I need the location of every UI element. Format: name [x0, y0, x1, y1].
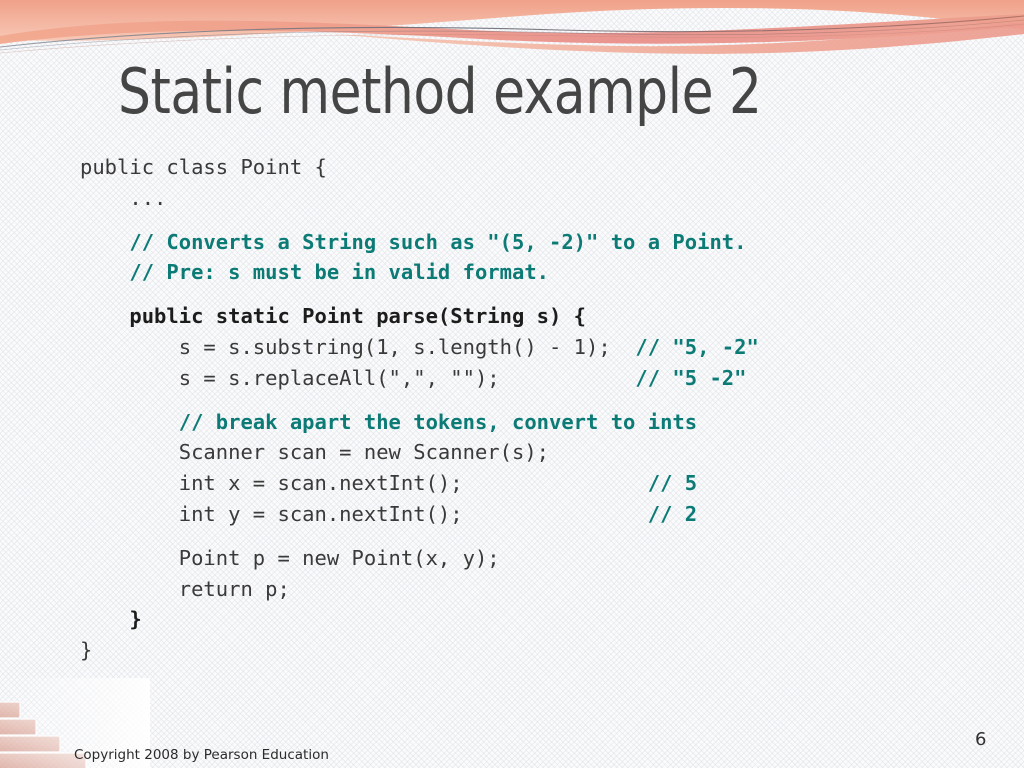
code-token-cmt: // "5, -2": [635, 335, 758, 359]
code-token-plain: Scanner scan = new Scanner(s);: [80, 440, 549, 464]
slide-page-number: 6: [975, 729, 986, 750]
code-token-cmt: // 5: [648, 471, 697, 495]
code-token-cmt: // "5 -2": [635, 366, 746, 390]
code-token-plain: Point p = new Point(x, y);: [80, 546, 500, 570]
code-line: }: [80, 604, 759, 635]
code-blank-line: [80, 288, 759, 301]
code-token-plain: s = s.replaceAll(",", "");: [80, 366, 635, 390]
code-blank-line: [80, 214, 759, 227]
code-token-bold: public static Point parse(String s) {: [80, 304, 586, 328]
code-token-plain: return p;: [80, 577, 290, 601]
copyright-notice: Copyright 2008 by Pearson Education: [74, 747, 329, 763]
code-token-plain: s = s.substring(1, s.length() - 1);: [80, 335, 635, 359]
code-block: public class Point { ... // Converts a S…: [80, 152, 759, 666]
code-line: // break apart the tokens, convert to in…: [80, 407, 759, 438]
code-token-plain: }: [80, 638, 92, 662]
code-blank-line: [80, 530, 759, 543]
code-line: Scanner scan = new Scanner(s);: [80, 437, 759, 468]
slide-canvas: Static method example 2 public class Poi…: [0, 0, 1024, 768]
code-token-plain: int y = scan.nextInt();: [80, 502, 648, 526]
code-line: ...: [80, 183, 759, 214]
code-token-plain: int x = scan.nextInt();: [80, 471, 648, 495]
code-token-cmt: // Converts a String such as "(5, -2)" t…: [80, 230, 746, 254]
code-line: s = s.replaceAll(",", ""); // "5 -2": [80, 363, 759, 394]
code-line: }: [80, 635, 759, 666]
code-token-plain: public class Point {: [80, 155, 327, 179]
code-token-bold: }: [80, 607, 142, 631]
code-token-cmt: // break apart the tokens, convert to in…: [80, 410, 697, 434]
code-token-cmt: // Pre: s must be in valid format.: [80, 260, 549, 284]
code-blank-line: [80, 394, 759, 407]
code-line: Point p = new Point(x, y);: [80, 543, 759, 574]
page-title: Static method example 2: [118, 52, 918, 134]
code-line: public class Point {: [80, 152, 759, 183]
code-line: // Converts a String such as "(5, -2)" t…: [80, 227, 759, 258]
code-line: public static Point parse(String s) {: [80, 301, 759, 332]
code-token-cmt: // 2: [648, 502, 697, 526]
code-line: // Pre: s must be in valid format.: [80, 257, 759, 288]
code-line: int x = scan.nextInt(); // 5: [80, 468, 759, 499]
code-line: int y = scan.nextInt(); // 2: [80, 499, 759, 530]
code-line: s = s.substring(1, s.length() - 1); // "…: [80, 332, 759, 363]
code-token-plain: ...: [80, 186, 166, 210]
code-line: return p;: [80, 574, 759, 605]
